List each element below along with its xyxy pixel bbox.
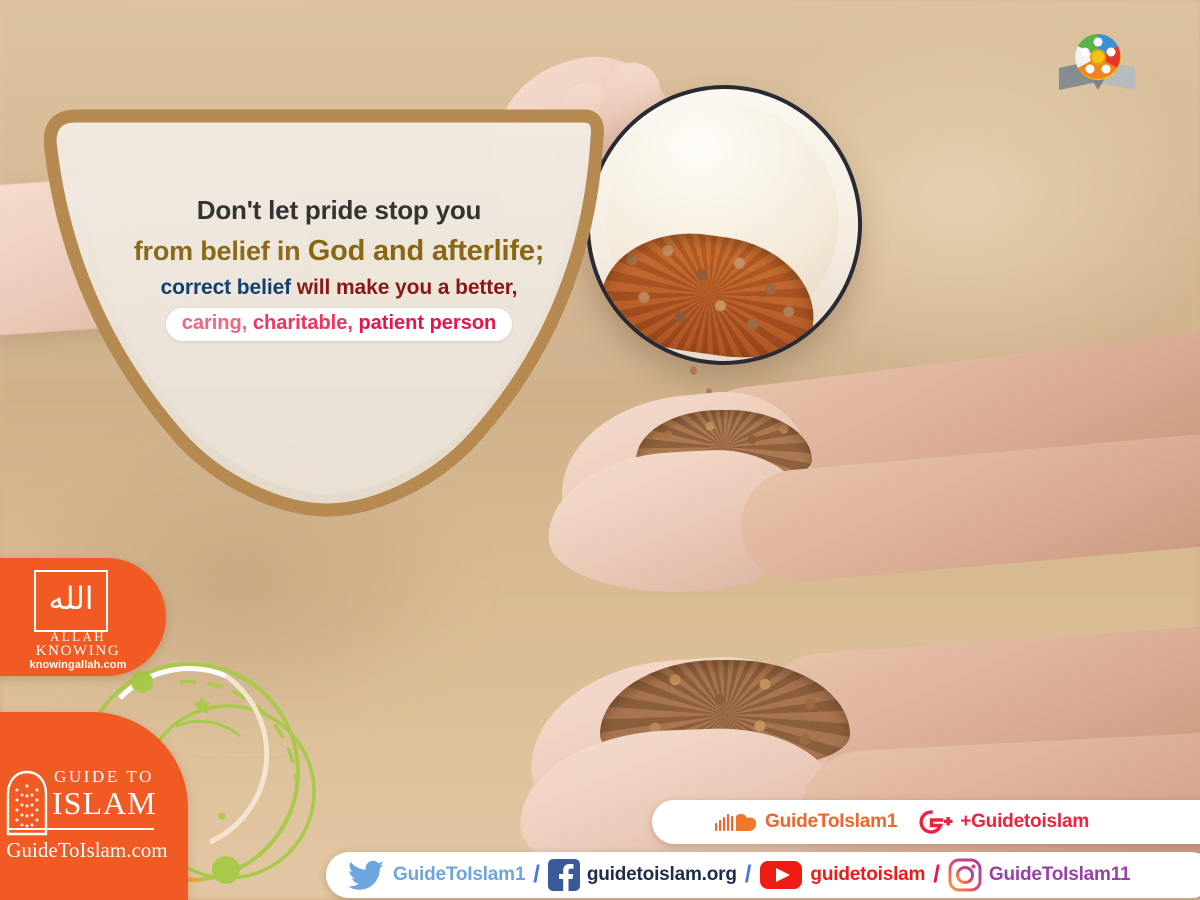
social-link-facebook[interactable]: guidetoislam.org xyxy=(548,859,737,891)
social-link-twitter[interactable]: GuideToIslam1 xyxy=(348,860,525,890)
quote-line-4-wrapper: caring, charitable, patient person xyxy=(104,308,574,341)
guide-to-islam-url[interactable]: GuideToIslam.com xyxy=(0,838,180,862)
allah-calligraphy-box: الله xyxy=(34,570,108,632)
knowing-allah-url[interactable]: knowingallah.com xyxy=(0,659,166,671)
instagram-handle: GuideToIslam11 xyxy=(989,864,1131,886)
quote-line-4-pill: caring, charitable, patient person xyxy=(166,308,513,341)
googleplus-handle: +Guidetoislam xyxy=(960,811,1089,833)
guide-to-islam-divider xyxy=(8,828,154,830)
separator: / xyxy=(933,863,940,887)
quote-shield-card: Don't let pride stop you from belief in … xyxy=(44,108,604,518)
knowing-allah-badge[interactable]: الله ALLAH KNOWING knowingallah.com xyxy=(0,558,166,676)
allah-calligraphy-text: الله xyxy=(36,572,106,630)
soundcloud-icon xyxy=(714,810,758,834)
knowing-allah-title-top: ALLAH xyxy=(0,630,166,643)
poster-canvas: Don't let pride stop you from belief in … xyxy=(0,0,1200,900)
quote-line-4-part-3: patient person xyxy=(353,312,496,334)
quote-line-3-highlight: correct belief xyxy=(161,276,292,299)
youtube-handle: guidetoislam xyxy=(810,864,925,886)
quote-text-block: Don't let pride stop you from belief in … xyxy=(104,194,574,347)
separator: / xyxy=(533,863,540,887)
mosque-arch-icon xyxy=(6,770,48,836)
quote-line-4-part-2: charitable, xyxy=(247,312,353,334)
facebook-handle: guidetoislam.org xyxy=(587,864,737,886)
quote-line-2: from belief in God and afterlife; xyxy=(104,233,574,270)
quote-line-2-part-1: from belief in xyxy=(134,236,308,266)
social-bar-bottom: GuideToIslam1 / guidetoislam.org / guide… xyxy=(326,852,1200,898)
quote-line-4-part-1: caring, xyxy=(182,312,248,334)
guide-to-islam-title-bottom: ISLAM xyxy=(52,786,157,820)
quote-line-1: Don't let pride stop you xyxy=(104,194,574,227)
falling-grain xyxy=(690,366,697,375)
twitter-icon xyxy=(348,860,386,890)
guide-to-islam-badge[interactable]: GUIDE TO ISLAM GuideToIslam.com xyxy=(0,712,188,900)
social-link-soundcloud[interactable]: GuideToIslam1 xyxy=(714,810,897,834)
facebook-icon xyxy=(548,859,580,891)
knowing-allah-title-bottom: KNOWING xyxy=(0,643,166,659)
google-plus-icon xyxy=(919,809,953,835)
quote-line-2-part-2: God and afterlife; xyxy=(308,235,544,267)
social-bar-top: GuideToIslam1 +Guidetoislam xyxy=(652,800,1200,844)
twitter-handle: GuideToIslam1 xyxy=(393,864,525,886)
quote-line-3-rest: will make you a better, xyxy=(291,276,517,299)
social-link-googleplus[interactable]: +Guidetoislam xyxy=(919,809,1089,835)
soundcloud-handle: GuideToIslam1 xyxy=(765,811,897,833)
social-link-youtube[interactable]: guidetoislam xyxy=(759,859,925,891)
social-link-instagram[interactable]: GuideToIslam11 xyxy=(948,858,1131,892)
youtube-icon xyxy=(759,859,803,891)
quote-line-3: correct belief will make you a better, xyxy=(104,275,574,301)
guide-to-islam-title-top: GUIDE TO xyxy=(54,768,154,786)
globe-on-open-book-logo[interactable] xyxy=(1055,28,1141,100)
instagram-icon xyxy=(948,858,982,892)
separator: / xyxy=(745,863,752,887)
